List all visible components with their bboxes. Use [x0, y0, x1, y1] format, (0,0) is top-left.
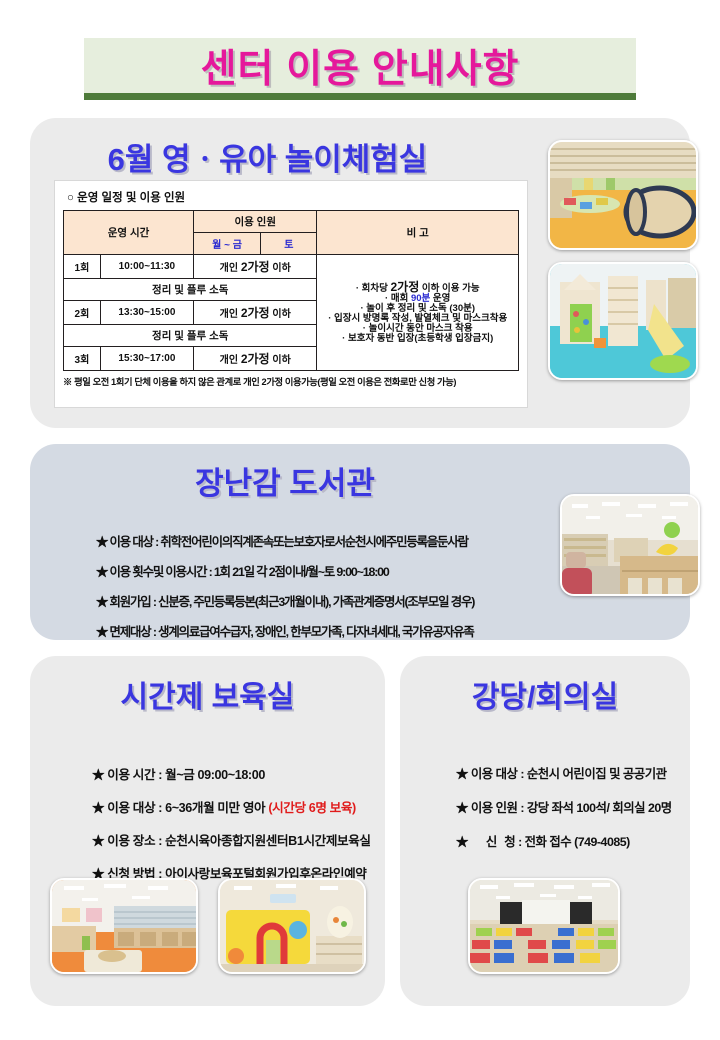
session-capacity: 개인 2가정 이하 — [193, 255, 316, 279]
section-play-room: 6월 영ㆍ유아 놀이체험실 ○ 운영 일정 및 이용 인원 운영 시간 이용 인… — [30, 118, 690, 428]
toy-library-item: ★ 이용 대상 : 취학전어린이의직계존속또는보호자로서순천시에주민등록을둔사람 — [96, 532, 556, 550]
session-capacity: 개인 2가정 이하 — [193, 301, 316, 325]
page-title: 센터 이용 안내사항 — [201, 38, 520, 94]
hall-item: ★ 이용 인원 : 강당 좌석 100석/ 회의실 20명 — [456, 798, 681, 816]
play-room-schedule-table: 운영 시간 이용 인원 비 고 월 ~ 금 토 1회10:00~11:30개인 … — [63, 210, 519, 371]
cleaning-label: 정리 및 플루 소독 — [64, 279, 317, 301]
session-time: 15:30~17:00 — [100, 347, 193, 371]
th-operating-time: 운영 시간 — [64, 211, 194, 255]
playroom-climbing-photo — [548, 262, 698, 380]
session-time: 10:00~11:30 — [100, 255, 193, 279]
session-no: 2회 — [64, 301, 101, 325]
th-weekday: 월 ~ 금 — [193, 233, 260, 255]
toy-library-photo — [560, 494, 700, 596]
auditorium-photo — [468, 878, 620, 974]
page-title-banner: 센터 이용 안내사항 — [84, 38, 636, 100]
session-no: 1회 — [64, 255, 101, 279]
hall-item: ★ 이용 대상 : 순천시 어린이집 및 공공기관 — [456, 764, 681, 782]
hourly-care-item: ★ 이용 시간 : 월~금 09:00~18:00 — [92, 764, 372, 783]
session-capacity: 개인 2가정 이하 — [193, 347, 316, 371]
play-room-schedule-card: ○ 운영 일정 및 이용 인원 운영 시간 이용 인원 비 고 월 ~ 금 토 … — [54, 180, 528, 408]
session-no: 3회 — [64, 347, 101, 371]
th-saturday: 토 — [261, 233, 317, 255]
cleaning-label: 정리 및 플루 소독 — [64, 325, 317, 347]
playroom-tunnel-photo — [548, 140, 698, 250]
section-hourly-care: 시간제 보육실 ★ 이용 시간 : 월~금 09:00~18:00★ 이용 대상… — [30, 656, 385, 1006]
play-room-note: ※ 평일 오전 1회기 단체 이용을 하지 않은 관계로 개인 2가정 이용가능… — [63, 374, 519, 388]
classroom-photo — [50, 878, 198, 974]
hourly-care-heading: 시간제 보육실 — [30, 656, 385, 716]
toy-library-item: ★ 이용 횟수및 이용시간 : 1회 21일 각 2점이내/월~토 9:00~1… — [96, 562, 556, 580]
section-hall: 강당/회의실 ★ 이용 대상 : 순천시 어린이집 및 공공기관★ 이용 인원 … — [400, 656, 690, 1006]
hourly-care-item: ★ 이용 대상 : 6~36개월 미만 영아 (시간당 6명 보육) — [92, 797, 372, 816]
hourly-care-item: ★ 이용 장소 : 순천시육아종합지원센터B1시간제보육실 — [92, 830, 372, 849]
hall-item: ★ 신청 : 전화 접수 (749-4085) — [456, 832, 681, 850]
session-time: 13:30~15:00 — [100, 301, 193, 325]
toy-library-item: ★ 회원가입 : 신분증, 주민등록등본(최근3개월이내), 가족관계증명서(조… — [96, 592, 556, 610]
th-capacity: 이용 인원 — [193, 211, 316, 233]
toy-library-list: ★ 이용 대상 : 취학전어린이의직계존속또는보호자로서순천시에주민등록을둔사람… — [56, 532, 556, 652]
th-remarks: 비 고 — [317, 211, 519, 255]
play-room-subheading: ○ 운영 일정 및 이용 인원 — [67, 189, 519, 205]
yellow-play-structure-photo — [218, 878, 366, 974]
hall-list: ★ 이용 대상 : 순천시 어린이집 및 공공기관★ 이용 인원 : 강당 좌석… — [416, 764, 681, 866]
table-row: 1회10:00~11:30개인 2가정 이하· 회차당 2가정 이하 이용 가능… — [64, 255, 519, 279]
hourly-care-list: ★ 이용 시간 : 월~금 09:00~18:00★ 이용 대상 : 6~36개… — [52, 764, 372, 896]
toy-library-item: ★ 면제대상 : 생계의료급여수급자, 장애인, 한부모가족, 다자녀세대, 국… — [96, 622, 556, 640]
remark-cell: · 회차당 2가정 이하 이용 가능· 매회 90분 운영· 놀이 후 정리 및… — [317, 255, 519, 371]
section-toy-library: 장난감 도서관 ★ 이용 대상 : 취학전어린이의직계존속또는보호자로서순천시에… — [30, 444, 690, 640]
hall-heading: 강당/회의실 — [400, 656, 690, 716]
